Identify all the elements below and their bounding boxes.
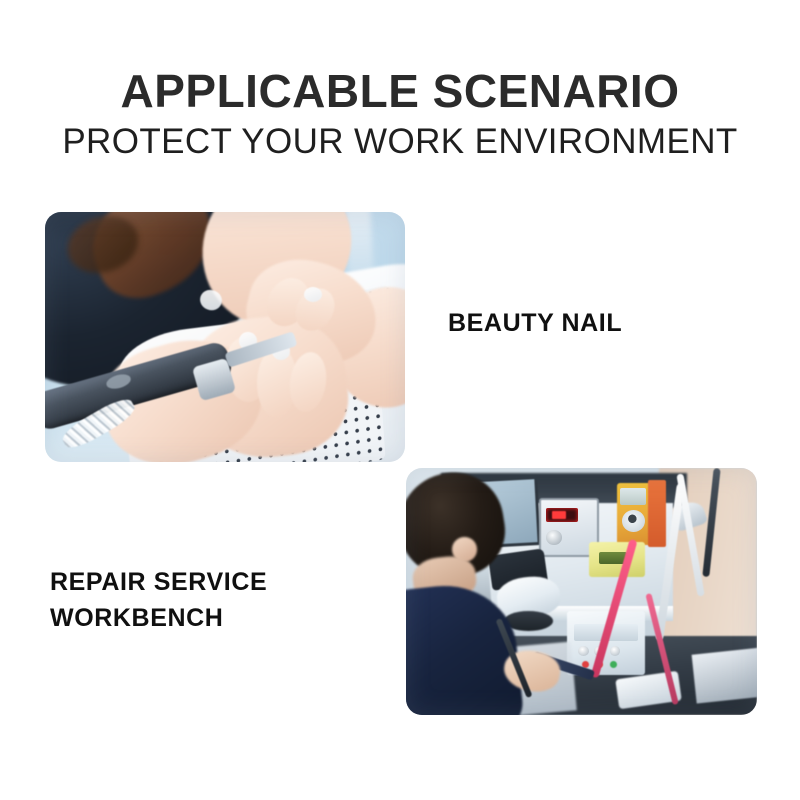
soldering-station-knob: [546, 530, 562, 545]
bench-equipment-box: [691, 647, 757, 703]
repair-workbench-scene: [406, 468, 757, 715]
beauty-nail-scene: [45, 212, 405, 462]
beauty-nail-caption: BEAUTY NAIL: [448, 305, 622, 341]
repair-workbench-caption-line-2: WORKBENCH: [50, 600, 267, 636]
multimeter-dial: [622, 510, 645, 532]
soldering-station-led: [552, 511, 566, 518]
control-button: [578, 646, 589, 656]
repair-workbench-photo: [406, 468, 757, 715]
multimeter-screen: [620, 488, 646, 505]
beauty-nail-photo: [45, 212, 405, 462]
control-button: [610, 646, 621, 656]
page-subtitle: PROTECT YOUR WORK ENVIRONMENT: [0, 124, 800, 159]
applicable-scenario-banner: APPLICABLE SCENARIO PROTECT YOUR WORK EN…: [0, 0, 800, 800]
multimeter-case: [648, 480, 666, 547]
repair-workbench-caption: REPAIR SERVICE WORKBENCH: [50, 564, 267, 637]
repair-workbench-caption-line-1: REPAIR SERVICE: [50, 564, 267, 600]
page-title: APPLICABLE SCENARIO: [0, 68, 800, 114]
